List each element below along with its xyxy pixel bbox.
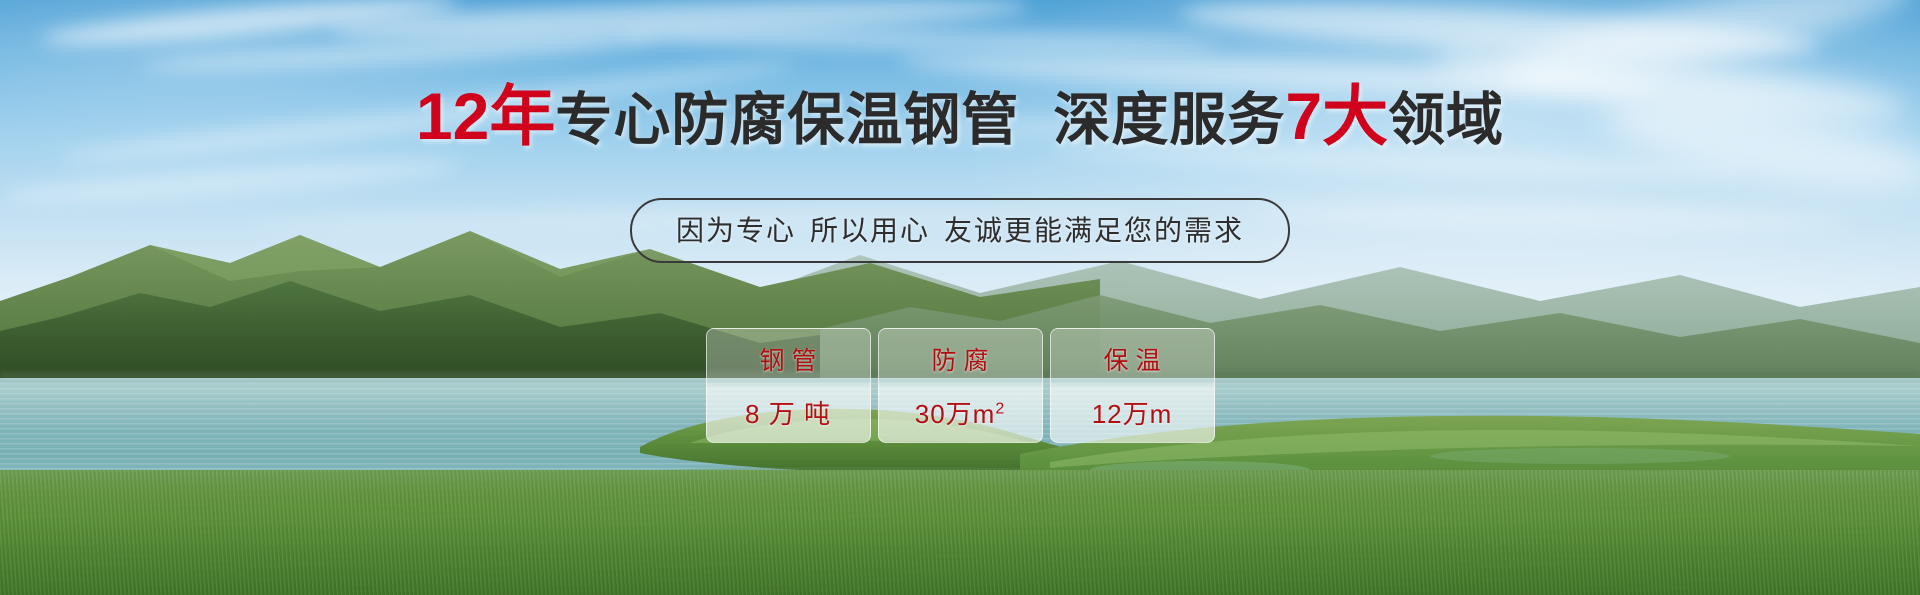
headline-text-fields: 领域	[1388, 88, 1504, 152]
subtitle-part-1: 因为专心	[676, 215, 796, 246]
stat-card-insulation: 保温 12万m	[1050, 328, 1215, 443]
stat-card-title: 钢管	[752, 341, 823, 377]
page-title: 12年专心防腐保温钢管深度服务7大领域	[0, 83, 1920, 149]
headline-fields-unit: 大	[1322, 79, 1388, 153]
stat-value-text: 12万m	[1092, 399, 1173, 429]
stat-card-value: 12万m	[1092, 394, 1173, 431]
stat-card-title: 保温	[1096, 341, 1167, 377]
headline-years-number: 12	[416, 79, 489, 153]
headline-text-main: 专心防腐保温钢管	[555, 88, 1019, 152]
stat-value-text: 8 万 吨	[745, 399, 831, 429]
foreground-grass	[0, 470, 1920, 595]
stat-card-anticorrosion: 防腐 30万m2	[878, 328, 1043, 443]
headline-fields-number: 7	[1285, 79, 1322, 153]
stat-card-row: 钢管 8 万 吨 防腐 30万m2 保温 12万m	[0, 328, 1920, 443]
subtitle-part-2: 所以用心	[810, 215, 930, 246]
stat-card-title: 防腐	[924, 341, 995, 377]
stat-value-text: 30万m	[915, 399, 996, 429]
subtitle-pill: 因为专心所以用心友诚更能满足您的需求	[630, 198, 1290, 263]
stat-card-steel-pipe: 钢管 8 万 吨	[706, 328, 871, 443]
stat-card-value: 30万m2	[915, 394, 1006, 431]
subtitle-part-3: 友诚更能满足您的需求	[944, 215, 1244, 246]
promo-banner: 12年专心防腐保温钢管深度服务7大领域 因为专心所以用心友诚更能满足您的需求 钢…	[0, 0, 1920, 595]
headline-text-service: 深度服务	[1053, 88, 1285, 152]
stat-value-superscript: 2	[995, 400, 1005, 417]
subtitle-container: 因为专心所以用心友诚更能满足您的需求	[0, 198, 1920, 263]
stat-card-value: 8 万 吨	[745, 394, 831, 431]
headline-years-unit: 年	[489, 79, 555, 153]
